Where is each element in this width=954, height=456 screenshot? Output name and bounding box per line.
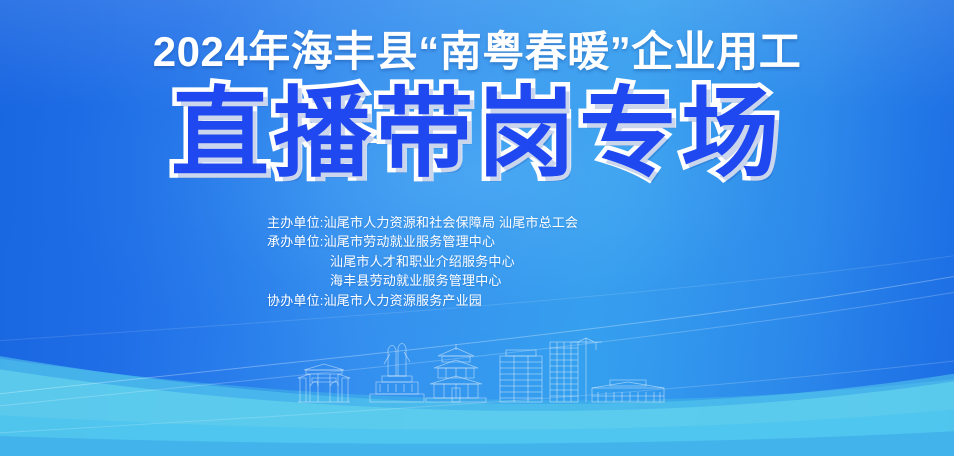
- office-tower-icon: [500, 350, 542, 402]
- poster-banner: 2024年海丰县“南粤春暖”企业用工 直播带岗专场 主办单位:汕尾市人力资源和社…: [0, 0, 954, 456]
- organizer-line: 承办单位:汕尾市劳动就业服务管理中心: [267, 232, 687, 252]
- paifang-archway-icon: [298, 364, 350, 402]
- wave-band-3: [0, 338, 954, 456]
- high-rise-tower-icon: [550, 342, 578, 402]
- pagoda-icon: [426, 344, 486, 402]
- poster-subtitle-line: 2024年海丰县“南粤春暖”企业用工: [0, 0, 954, 75]
- poster-content: 2024年海丰县“南粤春暖”企业用工 直播带岗专场 主办单位:汕尾市人力资源和社…: [0, 0, 954, 310]
- construction-crane-icon: [572, 338, 602, 402]
- civic-building-icon: [592, 380, 664, 402]
- organizer-line: 汕尾市人才和职业介绍服务中心: [267, 252, 687, 272]
- wave-band-2: [0, 306, 954, 456]
- wave-band-4: [0, 382, 954, 456]
- city-skyline-illustration: [296, 336, 668, 408]
- wave-band-5: [0, 416, 954, 456]
- poster-headline: 直播带岗专场: [0, 75, 954, 191]
- statue-icon: [370, 344, 424, 403]
- organizer-line: 海丰县劳动就业服务管理中心: [267, 271, 687, 291]
- organizer-line: 协办单位:汕尾市人力资源服务产业园: [267, 291, 687, 311]
- organizer-line: 主办单位:汕尾市人力资源和社会保障局 汕尾市总工会: [267, 213, 687, 233]
- organizer-list: 主办单位:汕尾市人力资源和社会保障局 汕尾市总工会 承办单位:汕尾市劳动就业服务…: [267, 191, 687, 311]
